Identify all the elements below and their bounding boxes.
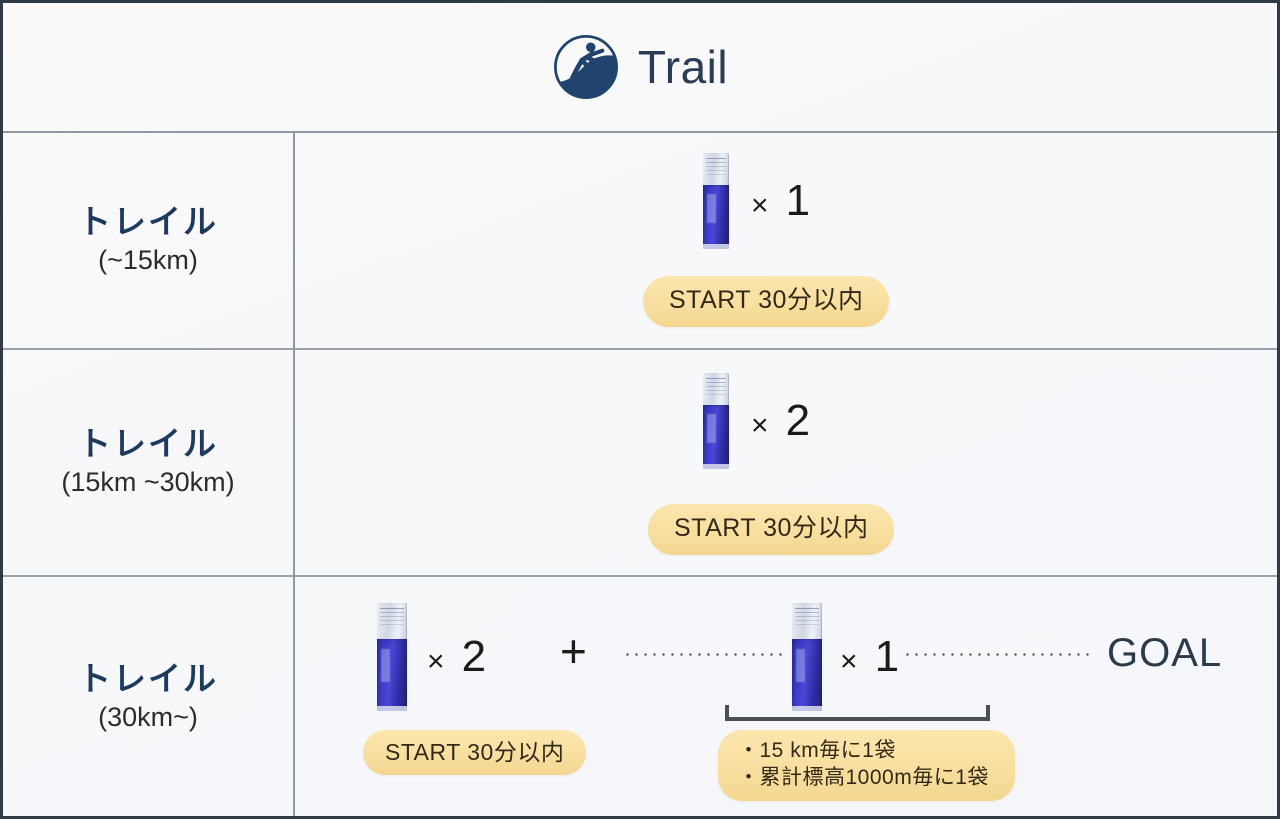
- goal-label-wrap: GOAL: [1107, 633, 1222, 673]
- trail-fueling-guide-table: Trail トレイル (~15km) × 1 START 30分以内: [0, 0, 1280, 819]
- start-timing-badge: START 30分以内: [363, 730, 586, 775]
- multiply-symbol: ×: [751, 189, 772, 222]
- row-label-sub: (~15km): [98, 246, 198, 276]
- gel-multiplier-3a: × 2: [427, 635, 489, 679]
- plus-symbol: +: [560, 625, 587, 677]
- interval-bracket: [725, 705, 990, 721]
- multiply-count: 1: [875, 632, 902, 681]
- interval-rule-distance: ・15 km毎に1袋: [738, 738, 989, 765]
- row-label-1: トレイル (~15km): [3, 131, 293, 348]
- start-badge-wrap-3: START 30分以内: [363, 730, 586, 775]
- row-label-main: トレイル: [78, 426, 218, 462]
- plus-symbol-wrap: +: [560, 628, 587, 674]
- multiply-symbol: ×: [751, 409, 772, 442]
- multiply-count: 2: [462, 632, 489, 681]
- table-row: トレイル (~15km) × 1 START 30分以内: [3, 131, 1277, 348]
- goal-label: GOAL: [1107, 631, 1222, 675]
- gel-multiplier-3b: × 1: [840, 635, 902, 679]
- gel-multiplier-1: × 1: [751, 179, 813, 223]
- page-title: Trail: [638, 44, 728, 90]
- header: Trail: [3, 3, 1277, 131]
- multiply-count: 1: [786, 176, 813, 225]
- start-badge-wrap-2: START 30分以内: [648, 504, 894, 555]
- multiply-symbol: ×: [840, 645, 861, 678]
- row-content-1: × 1 START 30分以内: [295, 131, 1277, 348]
- trail-runner-icon: [552, 33, 620, 101]
- row-label-sub: (15km ~30km): [61, 468, 234, 498]
- row-label-2: トレイル (15km ~30km): [3, 348, 293, 575]
- start-timing-badge: START 30分以内: [648, 504, 894, 555]
- table-row: トレイル (15km ~30km) × 2 START 30分以内: [3, 348, 1277, 575]
- energy-gel-packet-icon: [792, 603, 822, 711]
- energy-gel-packet-icon: [703, 373, 729, 469]
- row-label-main: トレイル: [78, 661, 218, 697]
- gel-multiplier-2: × 2: [751, 399, 813, 443]
- gel-quantity-group-3a: × 2: [377, 603, 489, 711]
- dotted-connector-right: [903, 653, 1091, 656]
- row-content-3: × 2 + × 1: [295, 575, 1277, 819]
- interval-rule-elevation: ・累計標高1000m毎に1袋: [738, 765, 989, 792]
- row-label-3: トレイル (30km~): [3, 575, 293, 819]
- row-label-main: トレイル: [78, 204, 218, 240]
- row-content-2: × 2 START 30分以内: [295, 348, 1277, 575]
- table-row: トレイル (30km~) × 2 +: [3, 575, 1277, 819]
- multiply-count: 2: [786, 396, 813, 445]
- dotted-connector-left: [623, 653, 783, 656]
- gel-quantity-group-1: × 1: [703, 153, 813, 249]
- row-label-sub: (30km~): [98, 703, 198, 733]
- gel-quantity-group-2: × 2: [703, 373, 813, 469]
- multiply-symbol: ×: [427, 645, 448, 678]
- start-badge-wrap-1: START 30分以内: [643, 276, 889, 327]
- gel-quantity-group-3b: × 1: [792, 603, 902, 711]
- energy-gel-packet-icon: [703, 153, 729, 249]
- interval-rules-badge: ・15 km毎に1袋 ・累計標高1000m毎に1袋: [718, 730, 1015, 801]
- interval-badge-wrap: ・15 km毎に1袋 ・累計標高1000m毎に1袋: [718, 730, 1015, 801]
- start-timing-badge: START 30分以内: [643, 276, 889, 327]
- energy-gel-packet-icon: [377, 603, 407, 711]
